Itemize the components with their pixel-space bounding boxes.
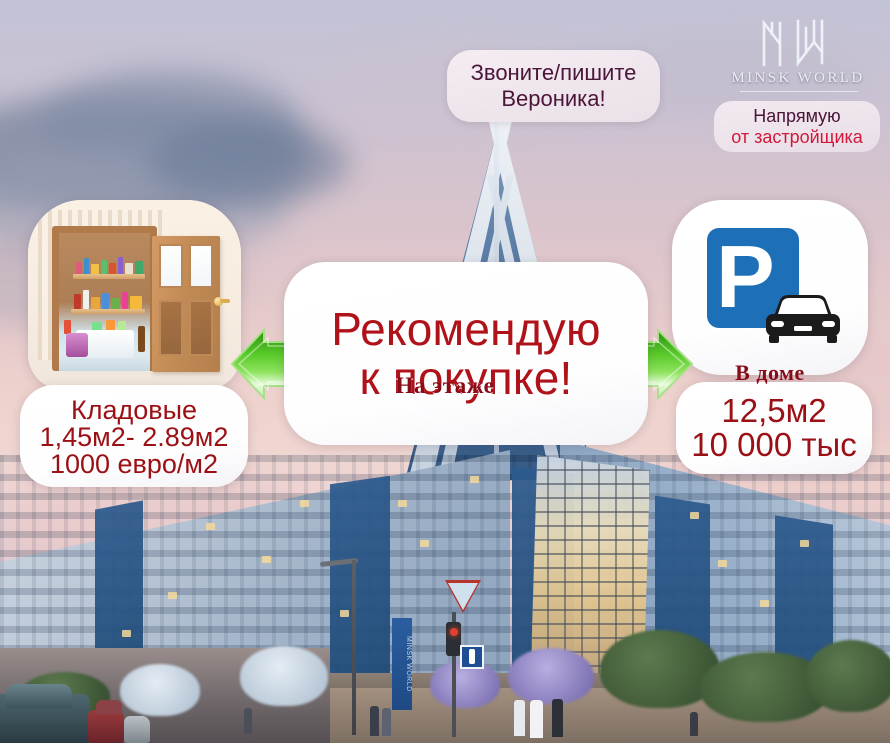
brand-logo[interactable]: MINSK WORLD xyxy=(718,18,878,98)
logo-divider xyxy=(740,91,858,92)
logo-wordmark: MINSK WORLD xyxy=(718,70,878,87)
left-line-3: 1000 евро/м2 xyxy=(50,451,218,478)
call-bubble-line2: Вероника! xyxy=(501,86,605,112)
left-line-2: 1,45м2- 2.89м2 xyxy=(40,424,229,451)
call-contact-bubble[interactable]: Звоните/пишите Вероника! xyxy=(447,50,660,122)
mw-monogram-icon xyxy=(758,18,838,68)
right-line-2: 10 000 тыс xyxy=(691,428,856,462)
badge-line2: от застройщика xyxy=(731,127,863,147)
storage-image-card xyxy=(28,200,241,390)
direct-from-developer-badge[interactable]: Напрямую от застройщика xyxy=(714,101,880,152)
storage-room-open-door-illustration xyxy=(28,200,241,390)
street-banner-text: MINSK WORLD xyxy=(392,624,412,704)
poster-canvas: MINSK WORLD Звоните/пишите Вероника! xyxy=(0,0,890,743)
left-line-1: Кладовые xyxy=(71,397,197,424)
right-card-heading: В доме xyxy=(672,360,868,386)
center-line-1: Рекомендую xyxy=(331,305,600,354)
recommendation-card: Рекомендую к покупке! xyxy=(284,262,648,445)
right-line-1: 12,5м2 xyxy=(721,394,826,428)
call-bubble-line1: Звоните/пишите xyxy=(471,60,637,86)
left-text-card: Кладовые 1,45м2- 2.89м2 1000 евро/м2 xyxy=(20,385,248,487)
car-front-icon xyxy=(760,290,846,346)
badge-line1: Напрямую xyxy=(753,106,840,126)
